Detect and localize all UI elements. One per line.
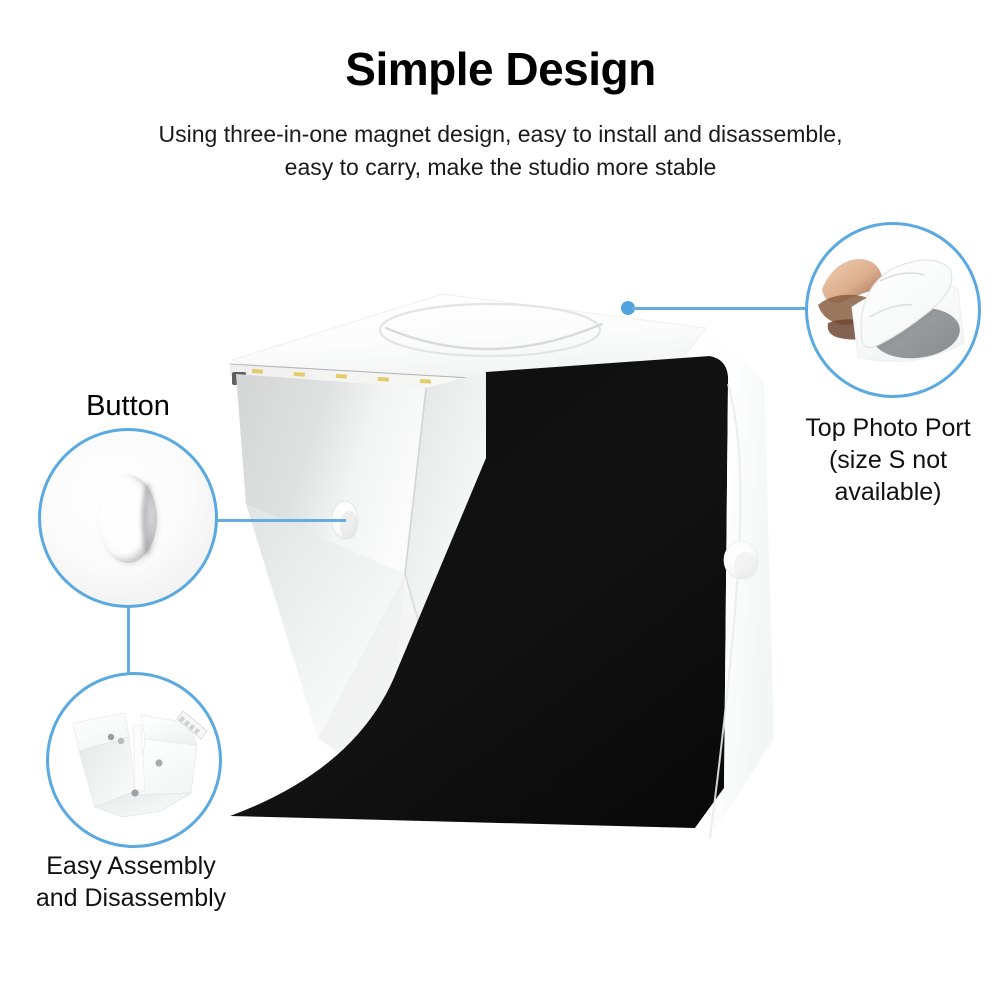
page-subtitle: Using three-in-one magnet design, easy t…	[110, 118, 891, 185]
assembly-center-strip	[133, 725, 145, 791]
callout-label-top-photo-port: Top Photo Port (size S not available)	[775, 412, 1001, 508]
assembly-magnet-3	[155, 759, 162, 766]
assembly-illustration	[49, 675, 222, 848]
magnet-snap-button-right-shadow	[734, 552, 758, 580]
callout-circle-button[interactable]	[38, 428, 218, 608]
infographic-page: Simple Design Using three-in-one magnet …	[0, 0, 1001, 1001]
callout-label-top-port-line-2: (size S not	[775, 444, 1001, 476]
connector-line-button	[214, 519, 346, 522]
assembly-magnet-4	[131, 789, 138, 796]
lightbox-product-illustration	[190, 268, 810, 868]
callout-label-top-port-line-1: Top Photo Port	[775, 412, 1001, 444]
page-title: Simple Design	[0, 44, 1001, 95]
connector-line-assembly	[127, 606, 130, 674]
assembly-magnet-1	[108, 734, 114, 740]
callout-label-assembly-line-1: Easy Assembly	[8, 850, 254, 882]
callout-circle-top-photo-port[interactable]	[805, 222, 981, 398]
callout-label-top-port-line-3: available)	[775, 476, 1001, 508]
lightbox-svg	[190, 268, 810, 868]
callout-label-assembly-line-2: and Disassembly	[8, 882, 254, 914]
callout-label-button: Button	[28, 390, 228, 423]
callout-circle-assembly[interactable]	[46, 672, 222, 848]
subtitle-line-2: easy to carry, make the studio more stab…	[110, 151, 891, 184]
snap-button-closeup	[99, 475, 157, 563]
assembly-magnet-2	[118, 738, 124, 744]
callout-label-assembly: Easy Assembly and Disassembly	[8, 850, 254, 914]
assembly-panel-right-lower	[139, 739, 197, 795]
top-photo-port-illustration	[808, 225, 981, 398]
connector-line-top-port	[632, 307, 810, 310]
subtitle-line-1: Using three-in-one magnet design, easy t…	[110, 118, 891, 151]
